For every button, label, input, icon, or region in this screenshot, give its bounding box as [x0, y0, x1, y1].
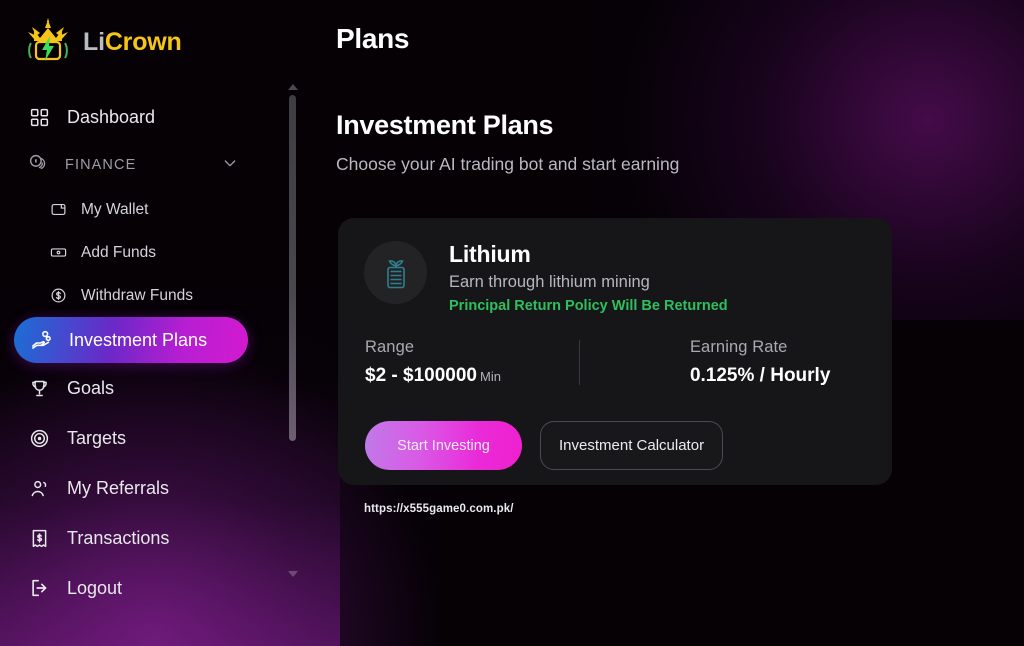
sidebar-item-targets[interactable]: Targets: [0, 413, 284, 463]
stats-divider: [579, 340, 580, 385]
sidebar-item-label: My Wallet: [81, 201, 148, 219]
sidebar-scrollbar[interactable]: [286, 84, 300, 584]
plan-avatar: [364, 241, 427, 304]
sidebar-item-label: My Referrals: [67, 478, 169, 499]
plan-name: Lithium: [449, 241, 728, 268]
sidebar-item-label: Logout: [67, 578, 122, 599]
plan-titles: Lithium Earn through lithium mining Prin…: [449, 241, 728, 314]
receipt-dollar-icon: [28, 527, 51, 550]
sidebar-item-dashboard[interactable]: Dashboard: [0, 92, 284, 142]
stat-value: 0.125% / Hourly: [690, 365, 830, 387]
sidebar-item-investment-plans[interactable]: Investment Plans: [14, 317, 248, 363]
plan-card-lithium[interactable]: Lithium Earn through lithium mining Prin…: [338, 218, 892, 485]
range-amount: $2 - $100000: [365, 365, 477, 386]
sidebar-item-add-funds[interactable]: Add Funds: [0, 231, 284, 274]
sidebar-group-finance[interactable]: FINANCE: [0, 142, 284, 188]
plan-header: Lithium Earn through lithium mining Prin…: [364, 241, 728, 314]
trophy-icon: [28, 377, 51, 400]
sidebar-item-my-referrals[interactable]: My Referrals: [0, 463, 284, 513]
sidebar-item-withdraw-funds[interactable]: Withdraw Funds: [0, 274, 284, 317]
range-unit: Min: [480, 369, 501, 384]
sidebar-item-transactions[interactable]: Transactions: [0, 513, 284, 563]
hand-coins-icon: [30, 329, 53, 352]
stat-earning-rate: Earning Rate 0.125% / Hourly: [690, 338, 830, 387]
main-content: Plans Investment Plans Choose your AI tr…: [304, 0, 1024, 646]
brand-name-li: Li: [83, 28, 105, 56]
page-title: Plans: [336, 23, 409, 55]
sidebar-item-label: Goals: [67, 378, 114, 399]
sidebar-scrollbar-thumb[interactable]: [289, 95, 296, 441]
section-title: Investment Plans: [336, 110, 553, 141]
scroll-up-arrow-icon[interactable]: [288, 84, 298, 90]
plan-stats: Range $2 - $100000Min Earning Rate 0.125…: [365, 338, 865, 387]
status-bar-url: https://x555game0.com.pk/: [364, 503, 514, 515]
stat-label: Earning Rate: [690, 338, 830, 357]
users-icon: [28, 477, 51, 500]
sidebar-item-goals[interactable]: Goals: [0, 363, 284, 413]
start-investing-button[interactable]: Start Investing: [365, 421, 522, 470]
brand-name-crown: Crown: [105, 28, 182, 56]
grid-squares-icon: [28, 106, 51, 129]
sidebar-item-label: Dashboard: [67, 107, 155, 128]
brand-name: LiCrown: [83, 28, 182, 57]
scroll-down-arrow-icon[interactable]: [288, 571, 298, 577]
investment-calculator-button[interactable]: Investment Calculator: [540, 421, 723, 470]
stat-range: Range $2 - $100000Min: [365, 338, 501, 387]
stat-label: Range: [365, 338, 501, 357]
sidebar-item-label: Investment Plans: [69, 330, 207, 351]
plan-actions: Start Investing Investment Calculator: [365, 421, 723, 470]
dollar-circle-icon: [49, 287, 67, 305]
banknote-icon: [49, 244, 67, 262]
sidebar-item-label: Withdraw Funds: [81, 287, 193, 305]
plan-description: Earn through lithium mining: [449, 273, 728, 292]
section-subtitle: Choose your AI trading bot and start ear…: [336, 154, 679, 175]
crown-battery-bolt-logo-icon: [22, 16, 74, 68]
sidebar-item-logout[interactable]: Logout: [0, 563, 284, 613]
brand-logo[interactable]: LiCrown: [22, 14, 182, 70]
sidebar-item-label: Transactions: [67, 528, 169, 549]
sidebar: LiCrown Dashboard: [0, 0, 304, 646]
wallet-icon: [49, 201, 67, 219]
sidebar-nav: Dashboard FINANCE: [0, 92, 284, 613]
coins-icon: [28, 153, 49, 178]
logout-icon: [28, 577, 51, 600]
sidebar-item-label: Add Funds: [81, 244, 156, 262]
target-icon: [28, 427, 51, 450]
sidebar-item-label: Targets: [67, 428, 126, 449]
app-root: LiCrown Dashboard: [0, 0, 1024, 646]
sidebar-item-my-wallet[interactable]: My Wallet: [0, 188, 284, 231]
chevron-down-icon[interactable]: [222, 155, 238, 175]
sidebar-group-label: FINANCE: [65, 157, 206, 173]
plan-policy-badge: Principal Return Policy Will Be Returned: [449, 298, 728, 314]
battery-sprout-icon: [378, 255, 414, 291]
stat-value: $2 - $100000Min: [365, 365, 501, 387]
